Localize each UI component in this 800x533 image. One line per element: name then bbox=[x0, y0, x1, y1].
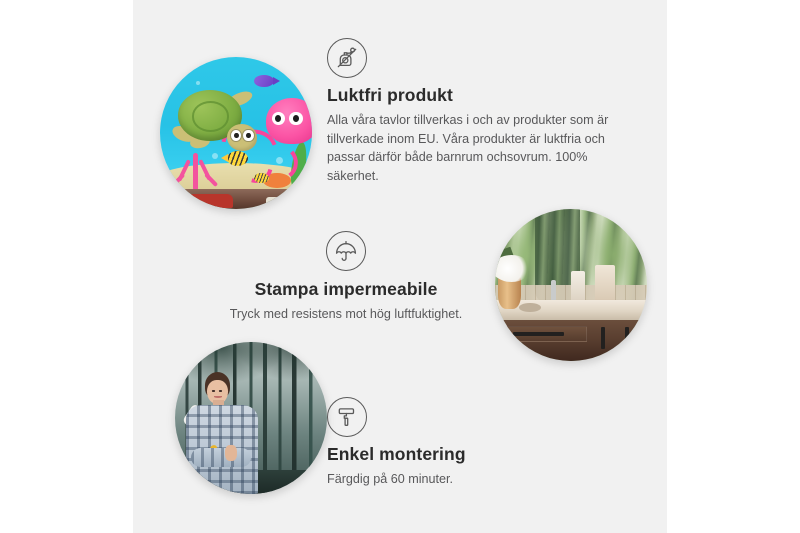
painter-person bbox=[181, 372, 266, 494]
octopus-icon bbox=[266, 98, 312, 144]
photo-painter bbox=[175, 342, 327, 494]
bottle-icon bbox=[571, 271, 585, 301]
feature-description: Alla våra tavlor tillverkas i och av pro… bbox=[327, 111, 617, 185]
person-arm bbox=[191, 448, 251, 467]
feature-description: Tryck med resistens mot hög luftfuktighe… bbox=[215, 305, 477, 324]
feature-block-mounting: Enkel montering Färgdig på 60 minuter. bbox=[327, 397, 587, 489]
feature-block-waterproof: Stampa impermeabile Tryck med resistens … bbox=[215, 231, 477, 324]
product-feature-infographic: Luktfri produkt Alla våra tavlor tillver… bbox=[133, 0, 667, 533]
vanity-cabinet bbox=[495, 320, 647, 361]
turtle-head bbox=[227, 124, 257, 151]
coral-icon bbox=[175, 142, 218, 191]
feature-block-odourless: Luktfri produkt Alla våra tavlor tillver… bbox=[327, 38, 617, 185]
feature-title: Luktfri produkt bbox=[327, 85, 617, 106]
seabed-foreground bbox=[160, 189, 312, 209]
paint-roller-icon bbox=[327, 397, 367, 437]
person-hand bbox=[225, 445, 237, 461]
box-icon bbox=[595, 265, 615, 303]
screenshot-root: Luktfri produkt Alla våra tavlor tillver… bbox=[0, 0, 800, 533]
feature-title: Enkel montering bbox=[327, 444, 587, 465]
faucet-icon bbox=[551, 280, 556, 301]
photo-bathroom bbox=[495, 209, 647, 361]
photo-underwater bbox=[160, 57, 312, 209]
feature-description: Färgdig på 60 minuter. bbox=[327, 470, 587, 489]
umbrella-icon bbox=[326, 231, 366, 271]
feature-title: Stampa impermeabile bbox=[215, 279, 477, 300]
no-fragrance-icon bbox=[327, 38, 367, 78]
